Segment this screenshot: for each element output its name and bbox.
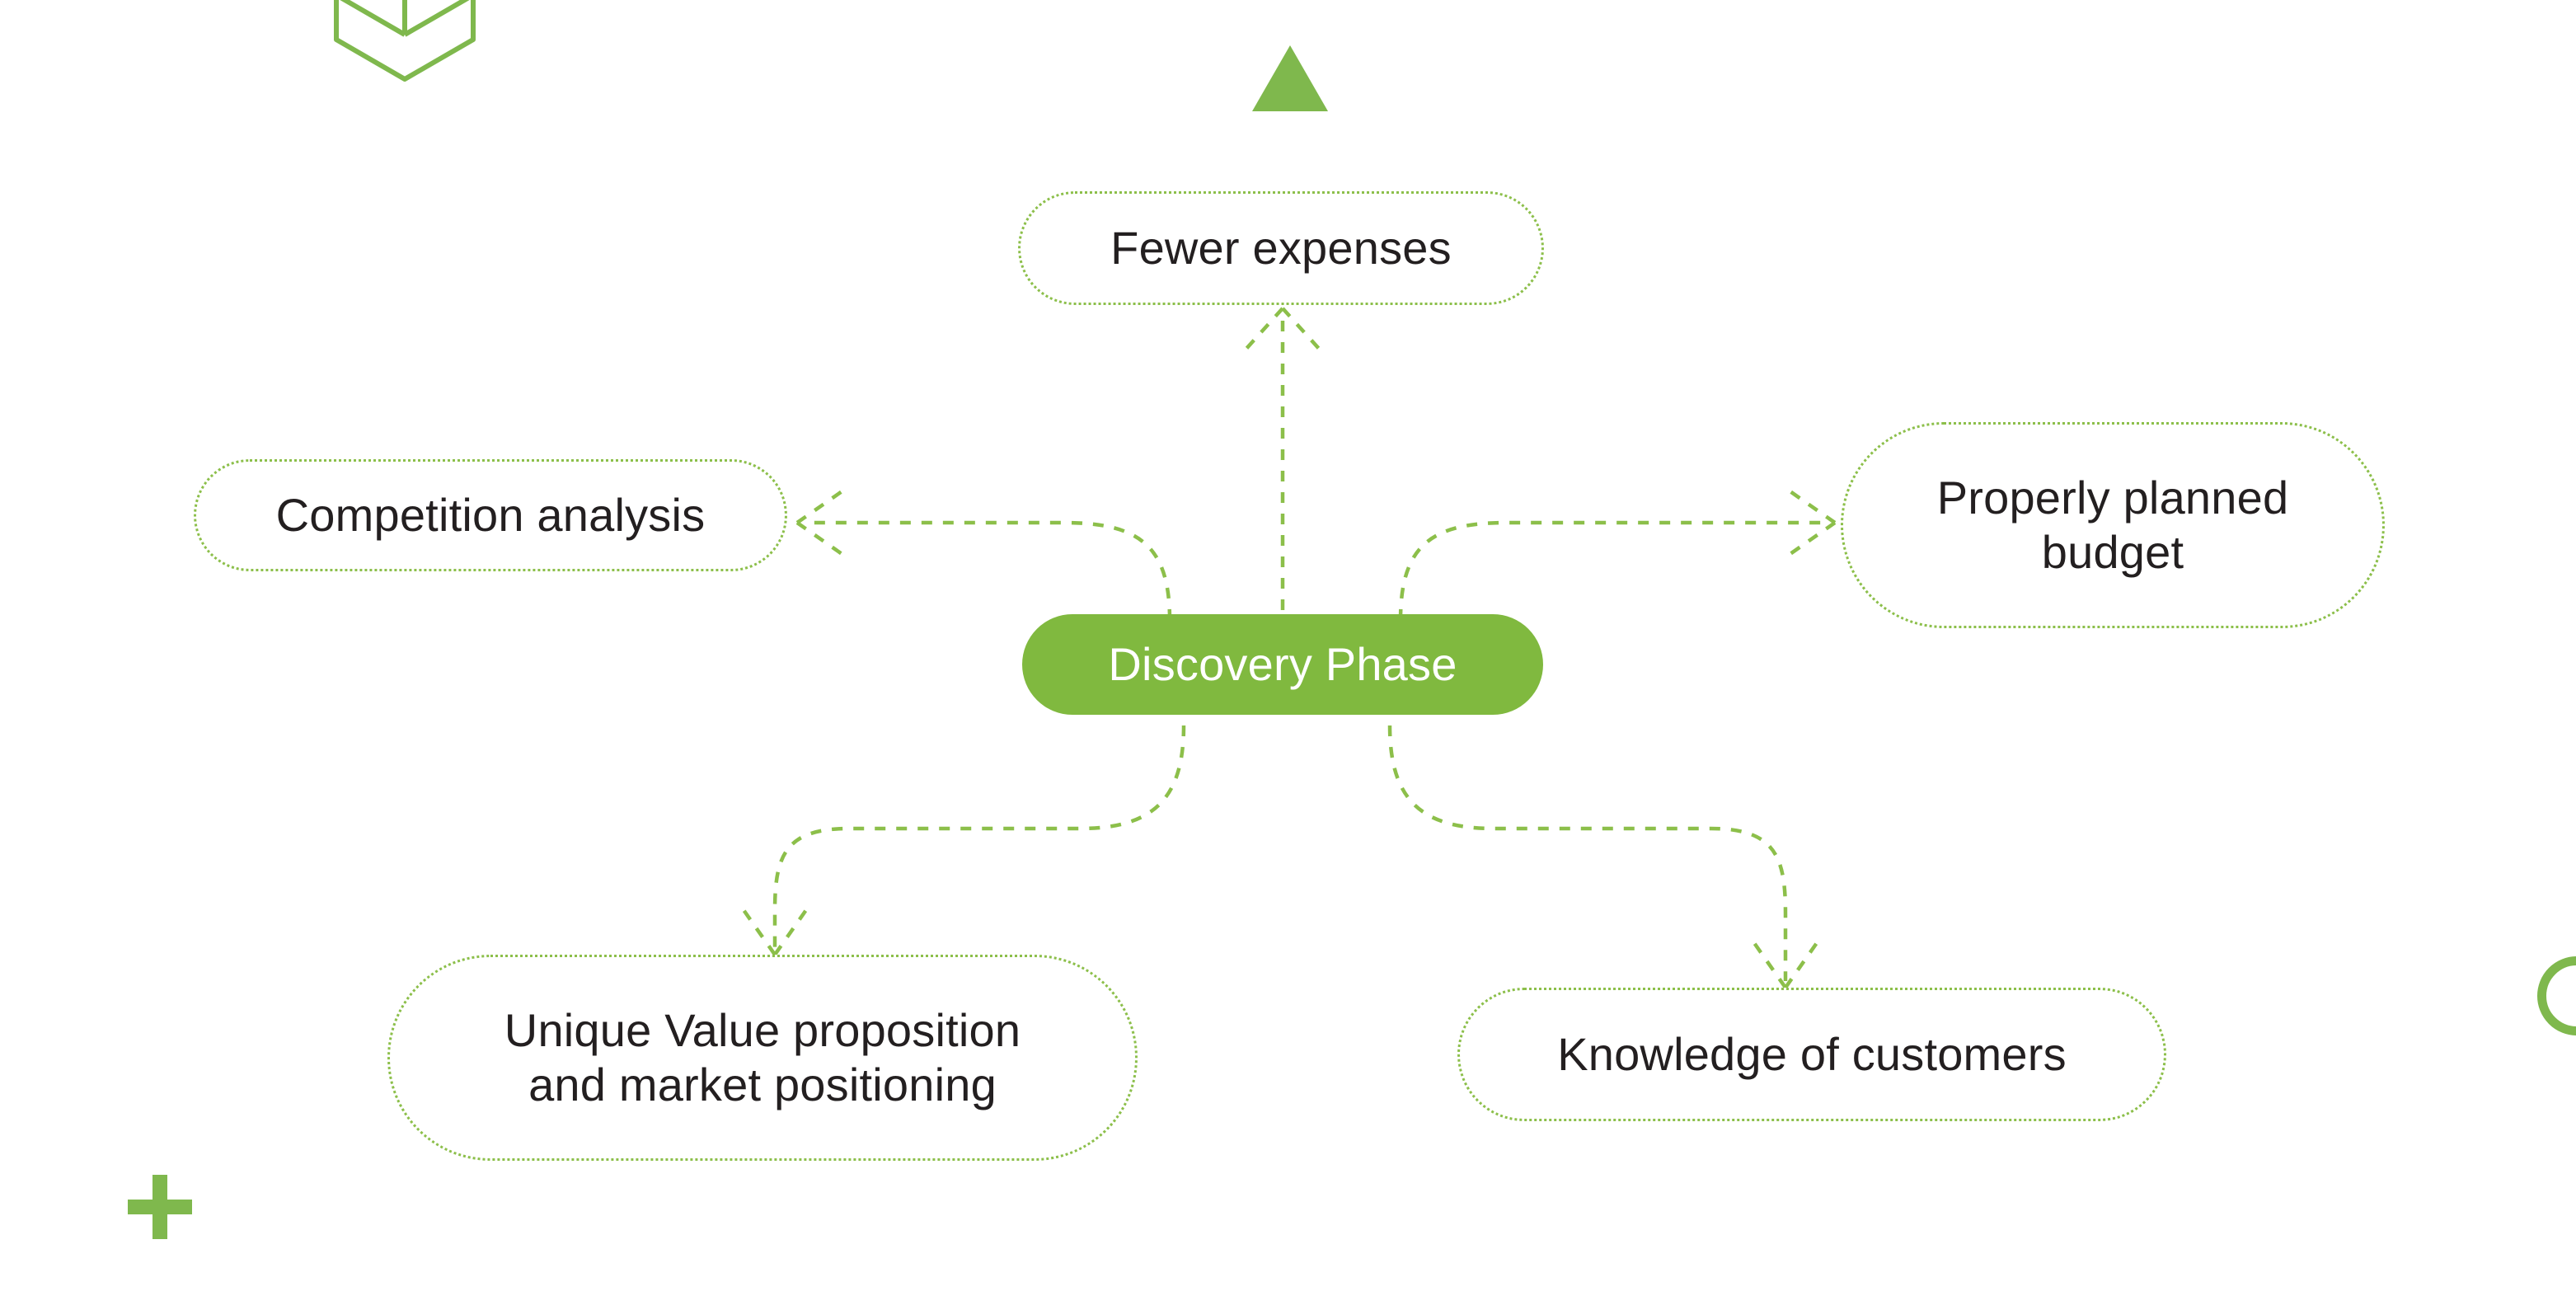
node-label: Discovery Phase	[1108, 637, 1457, 692]
node-label-line-2: budget	[2042, 526, 2184, 578]
connector-discovery-to-competition-analysis	[797, 486, 1170, 620]
node-label: Knowledge of customers	[1557, 1027, 2067, 1082]
connector-discovery-to-properly-planned-budget	[1401, 486, 1835, 620]
mind-map-canvas: Fewer expenses Competition analysis Prop…	[0, 0, 2576, 1310]
node-label: Competition analysis	[276, 488, 706, 542]
node-discovery-phase[interactable]: Discovery Phase	[1022, 614, 1543, 715]
cube-icon	[330, 0, 480, 82]
node-properly-planned-budget[interactable]: Properly planned budget	[1841, 422, 2385, 628]
node-unique-value-proposition[interactable]: Unique Value proposition and market posi…	[387, 955, 1138, 1161]
node-label-line-2: and market positioning	[528, 1059, 997, 1110]
node-label: Properly planned budget	[1937, 471, 2289, 579]
node-label-line-1: Unique Value proposition	[504, 1004, 1021, 1056]
node-label: Fewer expenses	[1110, 221, 1452, 275]
connector-discovery-to-fewer-expenses	[1246, 308, 1320, 610]
triangle-icon	[1252, 45, 1328, 111]
node-label-line-1: Properly planned	[1937, 472, 2289, 524]
node-competition-analysis[interactable]: Competition analysis	[194, 459, 787, 571]
connector-discovery-to-knowledge-of-customers	[1390, 725, 1820, 988]
circle-icon	[2537, 956, 2576, 1035]
plus-icon	[128, 1175, 192, 1239]
node-label: Unique Value proposition and market posi…	[504, 1003, 1021, 1111]
node-fewer-expenses[interactable]: Fewer expenses	[1018, 191, 1544, 305]
connector-discovery-to-unique-value-proposition	[740, 725, 1184, 955]
node-knowledge-of-customers[interactable]: Knowledge of customers	[1457, 988, 2166, 1121]
